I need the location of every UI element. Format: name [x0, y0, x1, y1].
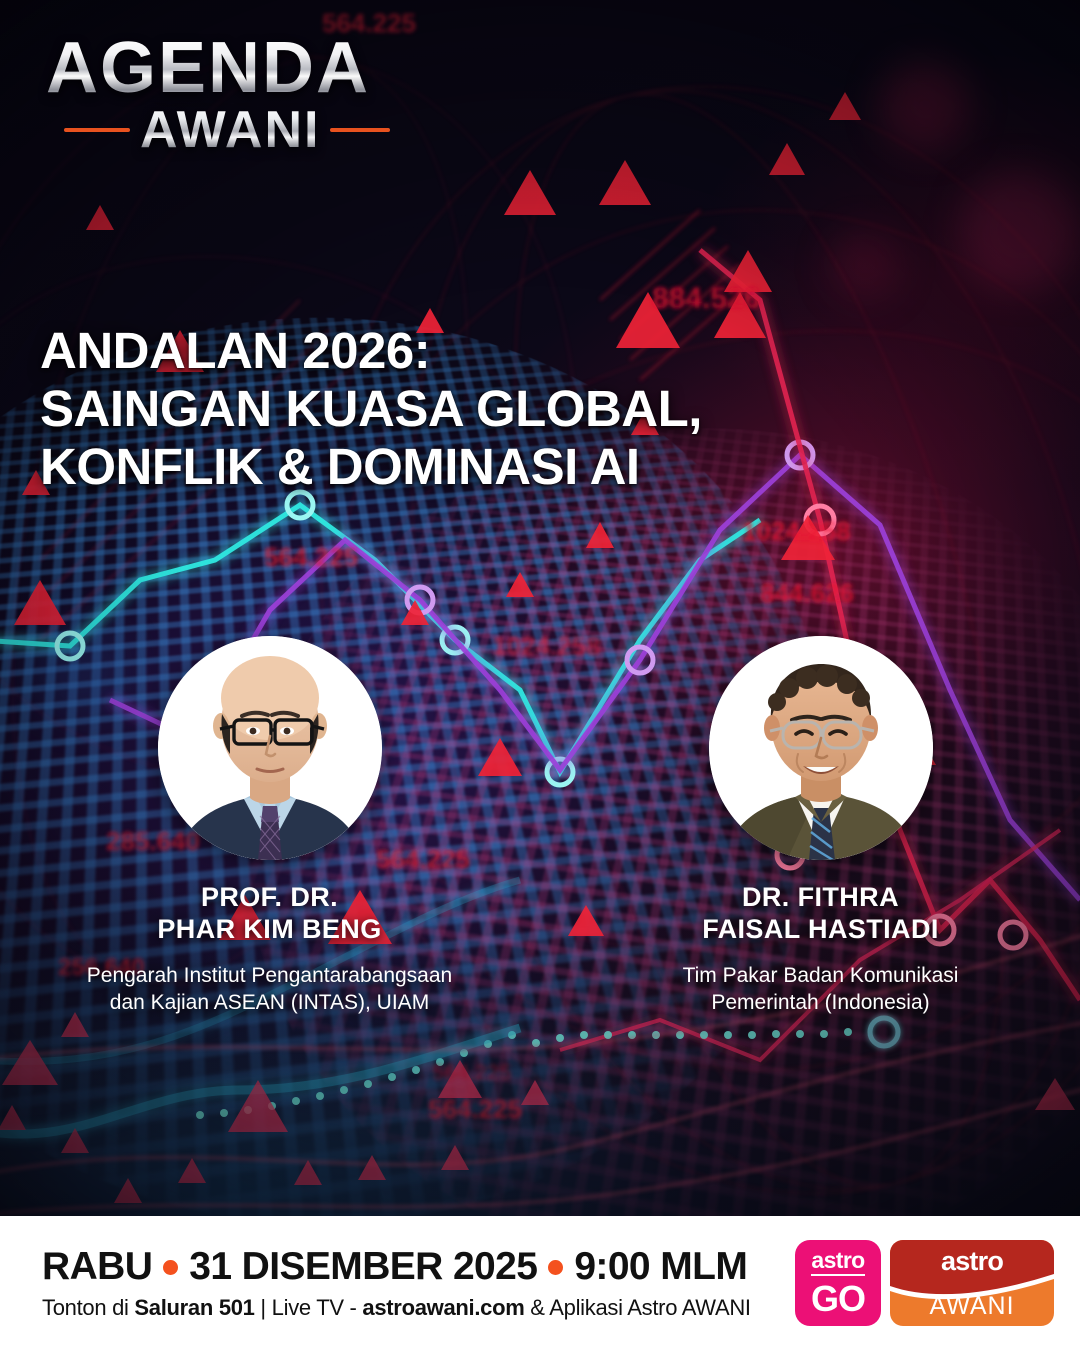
speaker-2-role: Tim Pakar Badan Komunikasi Pemerintah (I…: [683, 962, 959, 1017]
logo-dash-right-icon: [330, 128, 390, 132]
logo-awani-text: AWANI: [140, 104, 320, 156]
speaker-2-role-line-2: Pemerintah (Indonesia): [683, 989, 959, 1016]
astro-go-logo: astro GO: [795, 1240, 881, 1326]
speaker-2-name-line-2: FAISAL HASTIADI: [702, 914, 939, 946]
broadcast-datetime: RABU 31 DISEMBER 2025 9:00 MLM: [42, 1245, 795, 1289]
watch-website-link[interactable]: astroawani.com: [362, 1295, 524, 1320]
poster: 564.225 884.526 564.225 1024.258 1024.25…: [0, 0, 1080, 1350]
speaker-card-1: PROF. DR. PHAR KIM BENG Pengarah Institu…: [0, 636, 545, 1016]
footer-bar: RABU 31 DISEMBER 2025 9:00 MLM Tonton di…: [0, 1216, 1080, 1350]
agenda-awani-logo: AGENDA AWANI: [46, 34, 466, 156]
speaker-2-name-line-1: DR. FITHRA: [702, 882, 939, 914]
speaker-1-name-line-1: PROF. DR.: [157, 882, 381, 914]
logo-dash-left-icon: [64, 128, 130, 132]
headline-line-2: SAINGAN KUASA GLOBAL,: [40, 380, 940, 438]
speaker-1-role: Pengarah Institut Pengantarabangsaan dan…: [87, 962, 452, 1017]
footer-logos: astro GO astro AWANI: [795, 1240, 1080, 1326]
astro-awani-logo-bottom-text: AWANI: [890, 1292, 1054, 1321]
watch-separator: | Live TV -: [255, 1295, 363, 1320]
logo-agenda-text: AGENDA: [46, 34, 466, 102]
speaker-2-role-line-1: Tim Pakar Badan Komunikasi: [683, 962, 959, 989]
speaker-1-role-line-1: Pengarah Institut Pengantarabangsaan: [87, 962, 452, 989]
watch-channel: Saluran 501: [134, 1295, 254, 1320]
speaker-1-role-line-2: dan Kajian ASEAN (INTAS), UIAM: [87, 989, 452, 1016]
headline-line-3: KONFLIK & DOMINASI AI: [40, 438, 940, 496]
watch-prefix: Tonton di: [42, 1295, 134, 1320]
avatar-photo-1: [158, 636, 382, 860]
bullet-dot-2-icon: [548, 1260, 563, 1275]
bullet-dot-1-icon: [163, 1260, 178, 1275]
speaker-card-2: DR. FITHRA FAISAL HASTIADI Tim Pakar Bad…: [545, 636, 1080, 1016]
avatar-phar-kim-beng: [158, 636, 382, 860]
speaker-1-name-line-2: PHAR KIM BENG: [157, 914, 381, 946]
avatar-fithra-faisal-hastiadi: [709, 636, 933, 860]
speaker-1-name: PROF. DR. PHAR KIM BENG: [157, 882, 381, 946]
broadcast-day: RABU: [42, 1245, 152, 1289]
logo-awani-row: AWANI: [46, 104, 466, 156]
watch-suffix: & Aplikasi Astro AWANI: [525, 1295, 751, 1320]
headline-line-1: ANDALAN 2026:: [40, 322, 940, 380]
astro-go-logo-bottom: GO: [811, 1281, 865, 1317]
astro-awani-logo-top-text: astro: [890, 1246, 1054, 1277]
headline: ANDALAN 2026: SAINGAN KUASA GLOBAL, KONF…: [40, 322, 940, 496]
broadcast-date: 31 DISEMBER 2025: [189, 1245, 537, 1289]
speakers-row: PROF. DR. PHAR KIM BENG Pengarah Institu…: [0, 636, 1080, 1016]
broadcast-time: 9:00 MLM: [574, 1245, 747, 1289]
astro-awani-logo: astro AWANI: [890, 1240, 1054, 1326]
watch-instructions: Tonton di Saluran 501 | Live TV - astroa…: [42, 1295, 795, 1321]
avatar-photo-2: [709, 636, 933, 860]
footer-text-block: RABU 31 DISEMBER 2025 9:00 MLM Tonton di…: [0, 1245, 795, 1321]
speaker-2-name: DR. FITHRA FAISAL HASTIADI: [702, 882, 939, 946]
astro-go-logo-top: astro: [811, 1249, 864, 1276]
